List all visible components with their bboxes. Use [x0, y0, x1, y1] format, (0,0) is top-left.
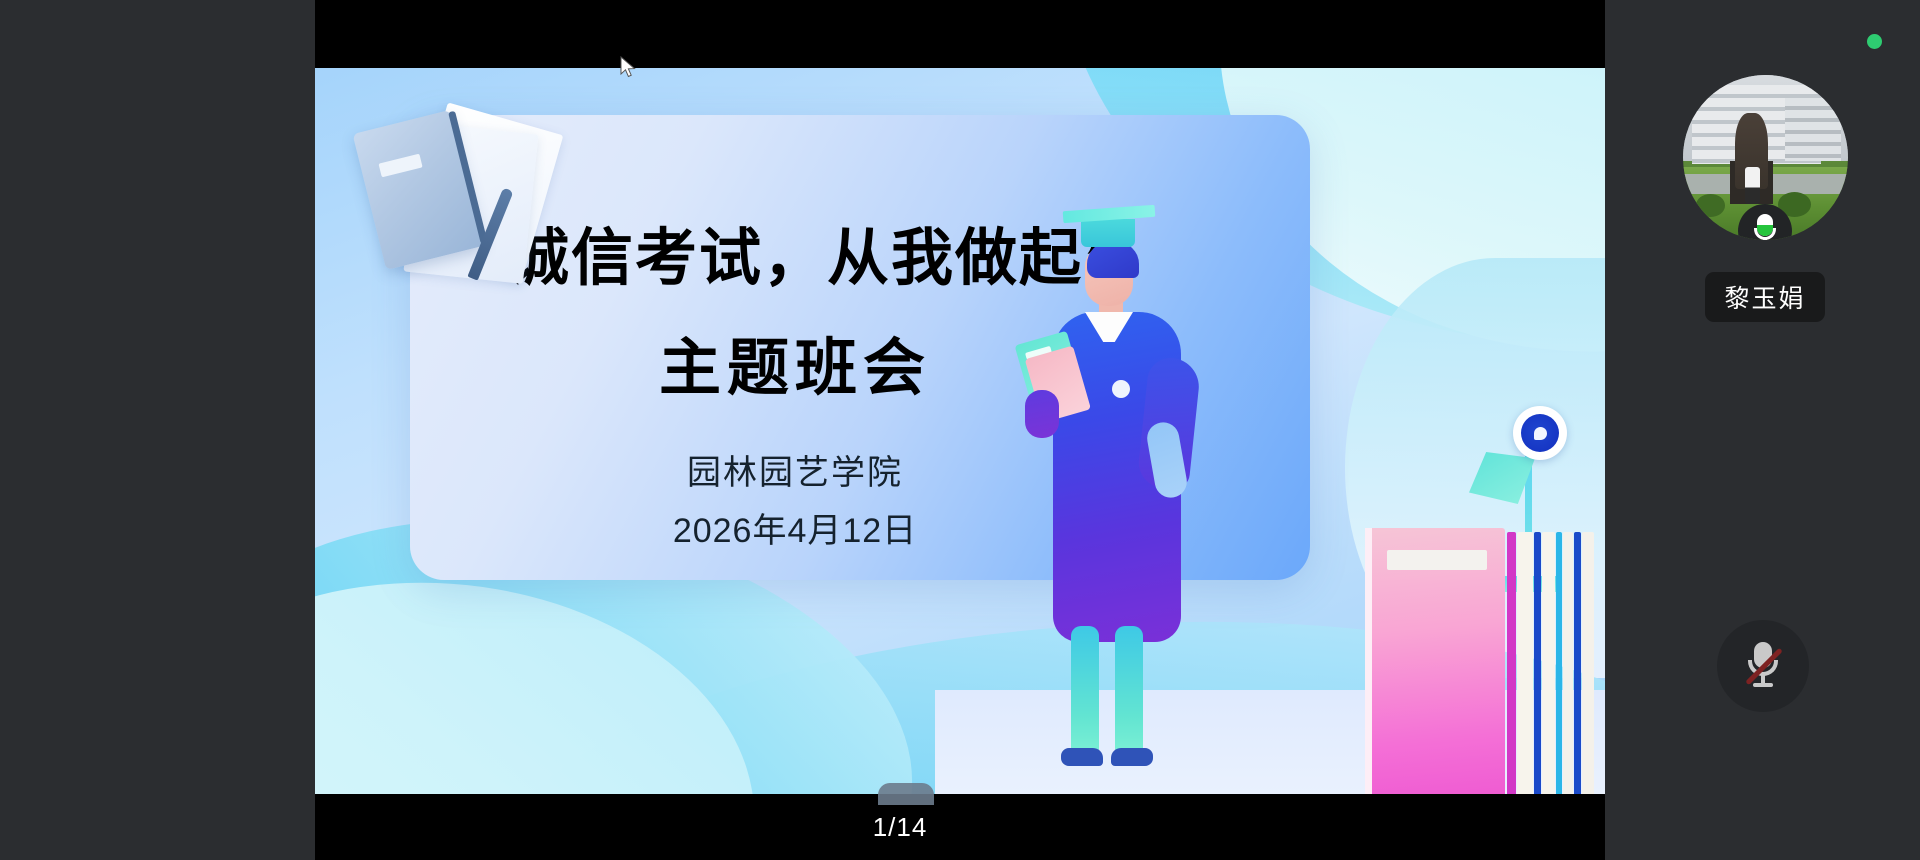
book-spine: [1542, 532, 1555, 794]
graduate-leg-left: [1071, 626, 1099, 754]
participant-tile[interactable]: 黎玉娟: [1665, 75, 1865, 322]
app-window: “诚信考试，从我做起” 主题班会 园林园艺学院 2026年4月12日: [0, 0, 1920, 860]
pink-book-edge: [1365, 528, 1372, 794]
graduate-leg-right: [1115, 626, 1143, 754]
decorative-wave-bottom-left-light: [315, 553, 776, 794]
circle-emblem-icon: [1513, 406, 1567, 460]
book-spine: [1582, 532, 1594, 794]
book-spine: [1563, 532, 1573, 794]
graduate-hair: [1087, 242, 1139, 278]
book-stack-illustration: [1365, 528, 1595, 794]
graduate-illustration: [1015, 208, 1235, 768]
avatar: [1683, 75, 1848, 240]
avatar-building-right: [1785, 98, 1841, 161]
graduate-shoe-right: [1111, 748, 1153, 766]
mortarboard-base: [1081, 219, 1135, 247]
book-spine: [1574, 532, 1581, 794]
pink-book-label: [1387, 550, 1487, 570]
pink-book-icon: [1365, 528, 1505, 794]
connection-status-dot: [1867, 34, 1882, 49]
avatar-shrub-left: [1696, 194, 1726, 217]
slide-control-nub[interactable]: [878, 783, 934, 805]
mic-level-indicator: [1755, 214, 1775, 240]
graduate-shoe-left: [1061, 748, 1103, 766]
page-indicator: 1/14: [873, 812, 928, 843]
book-spine: [1556, 532, 1562, 794]
avatar-person: [1745, 167, 1760, 203]
notebook-illustration: [363, 98, 563, 278]
circle-emblem-dot: [1534, 427, 1547, 440]
circle-emblem-inner: [1521, 414, 1559, 452]
mouse-cursor-icon: [620, 56, 638, 80]
book-spine: [1507, 532, 1516, 794]
notebook-label: [378, 154, 422, 178]
microphone-muted-icon: [1743, 640, 1783, 692]
book-spine: [1534, 532, 1541, 794]
mic-stem: [1763, 239, 1767, 240]
slide-bottom-bar: 1/14: [315, 794, 1605, 860]
mic-foot: [1753, 683, 1773, 687]
presentation-stage[interactable]: “诚信考试，从我做起” 主题班会 园林园艺学院 2026年4月12日: [315, 0, 1605, 860]
mute-toggle-button[interactable]: [1717, 620, 1809, 712]
gown-badge-icon: [1112, 380, 1130, 398]
book-spine: [1517, 532, 1533, 794]
participant-rail: 黎玉娟: [1605, 0, 1920, 860]
slide-canvas[interactable]: “诚信考试，从我做起” 主题班会 园林园艺学院 2026年4月12日: [315, 68, 1605, 794]
graduate-hand: [1025, 390, 1059, 438]
participant-name: 黎玉娟: [1705, 272, 1824, 322]
